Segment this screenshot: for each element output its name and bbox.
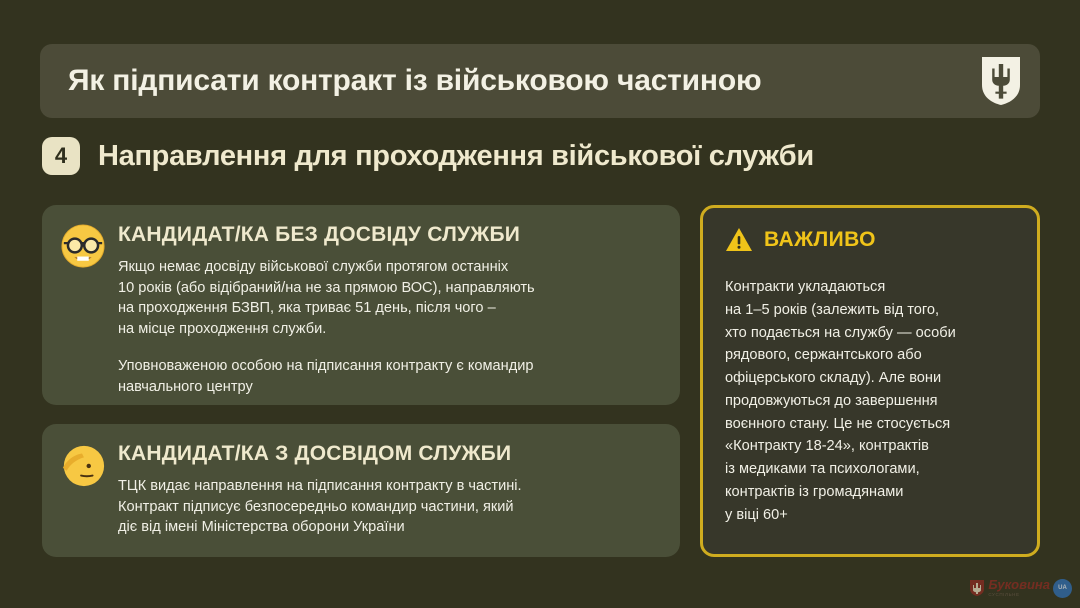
card-candidate-without-experience: КАНДИДАТ/КА БЕЗ ДОСВІДУ СЛУЖБИ Якщо нема… <box>42 205 680 405</box>
step-number-badge: 4 <box>42 137 80 175</box>
card-paragraph: Уповноваженою особою на підписання контр… <box>118 356 658 397</box>
card-paragraph: Якщо немає досвіду військової служби про… <box>118 257 658 340</box>
watermark-badge: UA <box>1053 579 1072 598</box>
card-content: КАНДИДАТ/КА БЕЗ ДОСВІДУ СЛУЖБИ Якщо нема… <box>118 221 658 397</box>
card-title: КАНДИДАТ/КА БЕЗ ДОСВІДУ СЛУЖБИ <box>118 223 658 247</box>
card-content: КАНДИДАТ/КА З ДОСВІДОМ СЛУЖБИ ТЦК видає … <box>118 440 658 538</box>
card-candidate-with-experience: КАНДИДАТ/КА З ДОСВІДОМ СЛУЖБИ ТЦК видає … <box>42 424 680 557</box>
warning-triangle-icon <box>725 226 753 254</box>
section-heading: 4 Направлення для проходження військової… <box>42 133 1042 179</box>
header-bar: Як підписати контракт із військовою част… <box>40 44 1040 118</box>
card-title: КАНДИДАТ/КА З ДОСВІДОМ СЛУЖБИ <box>118 442 658 466</box>
coat-of-arms-icon <box>969 579 985 597</box>
important-notice-header: ВАЖЛИВО <box>725 226 1015 254</box>
saluting-face-icon <box>60 442 106 488</box>
watermark-text-block: Буковина СУСПІЛЬНЕ <box>988 578 1050 598</box>
section-title: Направлення для проходження військової с… <box>98 140 814 173</box>
important-notice-text: Контракти укладаються на 1–5 років (зале… <box>725 276 1015 526</box>
watermark-name: Буковина <box>988 578 1050 591</box>
important-notice-title: ВАЖЛИВО <box>764 228 876 252</box>
trident-shield-emblem <box>980 55 1022 107</box>
important-notice-panel: ВАЖЛИВО Контракти укладаються на 1–5 рок… <box>700 205 1040 557</box>
page-title: Як підписати контракт із військовою част… <box>68 64 980 98</box>
nerd-face-icon <box>60 223 106 269</box>
card-paragraph: ТЦК видає направлення на підписання конт… <box>118 476 658 538</box>
watermark: Буковина СУСПІЛЬНЕ UA <box>969 576 1072 600</box>
watermark-subtitle: СУСПІЛЬНЕ <box>988 593 1050 598</box>
